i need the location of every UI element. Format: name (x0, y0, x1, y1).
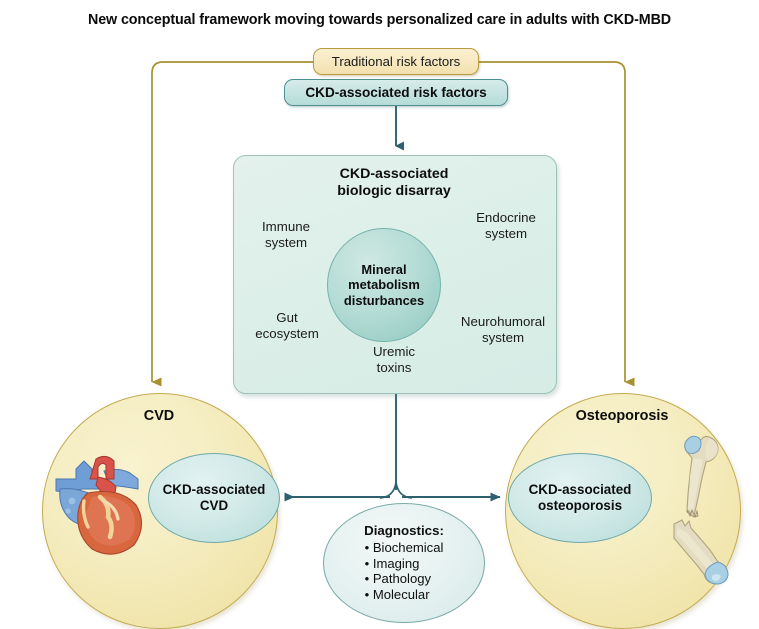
system-label-immune-line2: system (265, 235, 307, 250)
ckd-associated-osteoporosis-ellipse[interactable]: CKD-associated osteoporosis (508, 453, 652, 543)
system-label-uremic-toxins: Uremic toxins (342, 344, 446, 375)
mineral-circle-line2: metabolism (348, 277, 420, 292)
osteo-inner-line2: osteoporosis (538, 498, 622, 513)
diagnostics-item-biochemical: • Biochemical (365, 540, 444, 556)
mineral-circle-line1: Mineral (361, 262, 406, 277)
system-label-gut-line1: Gut (276, 310, 297, 325)
diagnostics-ellipse[interactable]: Diagnostics: • Biochemical • Imaging • P… (323, 503, 485, 623)
system-label-neurohumoral-line2: system (482, 330, 524, 345)
system-label-uremic-line1: Uremic (373, 344, 415, 359)
system-label-immune-line1: Immune (262, 219, 310, 234)
cvd-inner-line2: CVD (200, 498, 228, 513)
diagnostics-item-pathology: • Pathology (365, 571, 444, 587)
teal-connector-stem-flare-left (380, 482, 396, 498)
system-label-gut: Gut ecosystem (239, 310, 335, 341)
cvd-heading: CVD (42, 408, 276, 424)
heart-illustration (52, 449, 164, 567)
system-label-immune: Immune system (240, 219, 332, 250)
diagnostics-title: Diagnostics: (364, 523, 444, 539)
mineral-metabolism-disturbances-circle[interactable]: Mineral metabolism disturbances (327, 228, 441, 342)
mineral-circle-line3: disturbances (344, 293, 424, 308)
system-label-endocrine: Endocrine system (452, 210, 560, 241)
disarray-heading-line2: biologic disarray (337, 183, 451, 199)
cvd-inner-line1: CKD-associated (163, 482, 266, 497)
diagram-canvas: New conceptual framework moving towards … (0, 0, 759, 627)
system-label-neurohumoral: Neurohumoral system (444, 314, 562, 345)
ckd-associated-cvd-ellipse[interactable]: CKD-associated CVD (148, 453, 280, 543)
system-label-uremic-line2: toxins (377, 360, 412, 375)
diagnostics-item-imaging: • Imaging (365, 556, 444, 572)
page-title: New conceptual framework moving towards … (0, 12, 759, 28)
osteoporosis-heading: Osteoporosis (505, 408, 739, 424)
disarray-heading: CKD-associated biologic disarray (233, 166, 555, 201)
system-label-endocrine-line2: system (485, 226, 527, 241)
ckd-associated-risk-factors-box[interactable]: CKD-associated risk factors (284, 79, 508, 106)
system-label-gut-line2: ecosystem (255, 326, 319, 341)
teal-connector-stem-flare-right (396, 482, 412, 498)
osteo-inner-line1: CKD-associated (529, 482, 632, 497)
system-label-neurohumoral-line1: Neurohumoral (461, 314, 545, 329)
fractured-bone-illustration (660, 428, 752, 590)
disarray-heading-line1: CKD-associated (340, 166, 449, 182)
traditional-risk-factors-box[interactable]: Traditional risk factors (313, 48, 479, 75)
system-label-endocrine-line1: Endocrine (476, 210, 536, 225)
diagnostics-item-molecular: • Molecular (365, 587, 444, 603)
diagnostics-list: • Biochemical • Imaging • Pathology • Mo… (365, 540, 444, 603)
